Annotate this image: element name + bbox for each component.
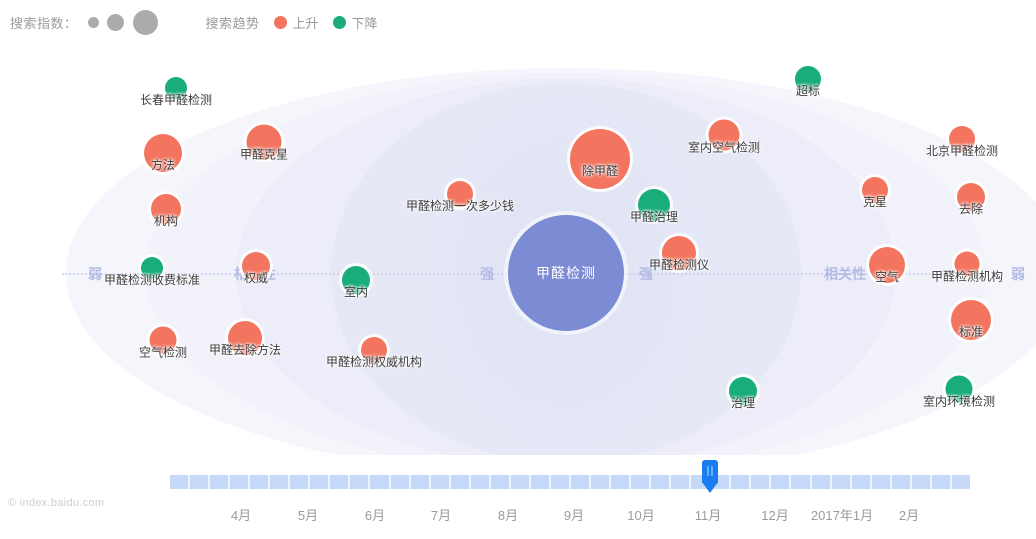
bubble-node[interactable]: 甲醛检测机构 [955,252,980,277]
center-keyword-label: 甲醛检测 [536,263,596,283]
timeline-segment[interactable] [350,475,368,489]
bubble-node[interactable]: 甲醛检测权威机构 [361,337,387,363]
chart-legend: 搜索指数： 搜索趋势 上升 下降 [0,0,1036,45]
timeline-segment[interactable] [210,475,228,489]
bubble-label: 甲醛检测收费标准 [104,273,200,287]
bubble-node[interactable]: 甲醛检测收费标准 [141,257,163,279]
legend-trend-label: 搜索趋势 [206,13,260,32]
timeline-segment[interactable] [932,475,950,489]
timeline-segment[interactable] [952,475,970,489]
bubble-label: 甲醛检测权威机构 [326,355,422,369]
month-label-9[interactable]: 2017年1月 [811,505,873,524]
bubble-node[interactable]: 甲醛治理 [638,189,670,221]
bubble-node[interactable]: 甲醛克星 [247,125,282,160]
bubble-node[interactable]: 克星 [862,177,888,203]
timeline-segment[interactable] [411,475,429,489]
timeline-segment[interactable] [791,475,809,489]
falling-dot-icon [333,16,346,29]
month-label-6[interactable]: 10月 [627,505,654,524]
bubble-label: 甲醛检测一次多少钱 [406,199,514,213]
bubble-label: 室内环境检测 [923,394,995,408]
bubble-label: 甲醛克星 [240,147,288,161]
bubble-label: 克星 [863,195,887,209]
timeline-segment[interactable] [771,475,789,489]
bubble-node[interactable]: 方法 [144,134,182,172]
axis-tag-2: 强 [480,264,494,284]
timeline-segment[interactable] [290,475,308,489]
bubble-node[interactable]: 北京甲醛检测 [949,126,975,152]
bubble-label: 甲醛检测仪 [649,258,709,272]
large-dot-icon [133,10,158,35]
bubble-node[interactable]: 室内空气检测 [709,120,740,151]
bubble-label: 甲醛去除方法 [209,343,281,357]
bubble-node[interactable]: 空气 [869,247,905,283]
legend-rising-label: 上升 [293,13,319,32]
bubble-label: 除甲醛 [582,164,618,178]
bubble-label: 治理 [731,396,755,410]
timeline-segment[interactable] [912,475,930,489]
watermark: © index.baidu.com [8,497,104,509]
timeline-segment[interactable] [551,475,569,489]
legend-size-label: 搜索指数： [10,13,78,32]
handle-tip [702,482,718,493]
bubble-label: 室内 [344,285,368,299]
bubble-node[interactable]: 除甲醛 [570,129,630,189]
bubble-label: 权威 [244,271,268,285]
bubble-label: 空气检测 [139,345,187,359]
month-label-5[interactable]: 9月 [564,505,584,524]
bubble-label: 空气 [875,270,899,284]
bubble-node[interactable]: 甲醛检测仪 [662,236,696,270]
bubble-label: 机构 [154,214,178,228]
bubble-node[interactable]: 治理 [729,377,757,405]
center-keyword-node[interactable]: 甲醛检测 [508,215,624,331]
bubble-node[interactable]: 权威 [242,252,270,280]
timeline-segment[interactable] [491,475,509,489]
timeline-segment[interactable] [391,475,409,489]
handle-grip-left [707,466,709,476]
handle-body [702,460,718,483]
timeline-segment[interactable] [812,475,830,489]
month-label-1[interactable]: 5月 [298,505,318,524]
timeline-segment[interactable] [892,475,910,489]
month-label-2[interactable]: 6月 [365,505,385,524]
timeline-segment[interactable] [751,475,769,489]
bubble-node[interactable]: 空气检测 [150,327,177,354]
bubble-node[interactable]: 长春甲醛检测 [165,77,187,99]
timeline-segment[interactable] [471,475,489,489]
axis-tag-4: 相关性 [824,264,866,284]
bubble-label: 方法 [151,158,175,172]
legend-item-rising[interactable]: 上升 [274,13,319,32]
rising-dot-icon [274,16,287,29]
axis-tag-0: 弱 [88,264,102,284]
timeline-segment[interactable] [370,475,388,489]
timeline-segment[interactable] [451,475,469,489]
month-label-7[interactable]: 11月 [695,505,722,524]
bubble-node[interactable]: 甲醛去除方法 [228,321,262,355]
timeline-segment[interactable] [731,475,749,489]
relevance-bubble-chart: 弱相关性强强相关性弱 长春甲醛检测方法机构甲醛检测收费标准空气检测甲醛克星权威甲… [0,45,1036,455]
bubble-label: 甲醛检测机构 [931,269,1003,283]
timeline-segment[interactable] [611,475,629,489]
bubble-node[interactable]: 去除 [957,183,985,211]
axis-tag-5: 弱 [1011,264,1025,284]
timeline-control[interactable]: 4月5月6月7月8月9月10月11月12月2017年1月2月 [0,455,1036,539]
month-label-10[interactable]: 2月 [899,505,919,524]
bubble-label: 室内空气检测 [688,140,760,154]
timeline-segment[interactable] [872,475,890,489]
timeline-segment[interactable] [190,475,208,489]
timeline-segment[interactable] [571,475,589,489]
rising-bubble-icon [570,129,630,189]
month-label-3[interactable]: 7月 [431,505,451,524]
timeline-segment[interactable] [230,475,248,489]
bubble-label: 标准 [959,325,983,339]
legend-item-falling[interactable]: 下降 [333,13,378,32]
legend-size-group: 搜索指数： [10,10,158,35]
timeline-segment[interactable] [631,475,649,489]
timeline-segment[interactable] [832,475,850,489]
timeline-segment[interactable] [170,475,188,489]
month-label-0[interactable]: 4月 [231,505,251,524]
timeline-segment[interactable] [651,475,669,489]
bubble-node[interactable]: 室内环境检测 [946,376,973,403]
bubble-label: 去除 [959,202,983,216]
small-dot-icon [88,17,99,28]
timeline-segment[interactable] [852,475,870,489]
timeline-segment[interactable] [431,475,449,489]
timeline-segment[interactable] [531,475,549,489]
timeline-segment[interactable] [330,475,348,489]
timeline-segment[interactable] [270,475,288,489]
bubble-node[interactable]: 甲醛检测一次多少钱 [447,181,473,207]
medium-dot-icon [107,14,124,31]
bubble-label: 北京甲醛检测 [926,144,998,158]
timeline-segment[interactable] [591,475,609,489]
timeline-track[interactable] [170,475,970,489]
bubble-node[interactable]: 标准 [951,300,991,340]
month-label-4[interactable]: 8月 [498,505,518,524]
timeline-month-labels: 4月5月6月7月8月9月10月11月12月2017年1月2月 [0,505,1036,531]
handle-grip-right [711,466,713,476]
timeline-segment[interactable] [250,475,268,489]
bubble-label: 长春甲醛检测 [140,93,212,107]
timeline-segment[interactable] [310,475,328,489]
legend-falling-label: 下降 [352,13,378,32]
bubble-node[interactable]: 超标 [795,66,821,92]
bubble-label: 甲醛治理 [630,210,678,224]
timeline-segment[interactable] [511,475,529,489]
legend-trend-group: 搜索趋势 上升 下降 [206,13,378,32]
bubble-node[interactable]: 室内 [342,266,370,294]
month-label-8[interactable]: 12月 [761,505,788,524]
timeline-segment[interactable] [671,475,689,489]
legend-size-dots [84,10,158,35]
bubble-label: 超标 [796,84,820,98]
timeline-handle[interactable] [702,460,718,494]
bubble-node[interactable]: 机构 [151,194,181,224]
